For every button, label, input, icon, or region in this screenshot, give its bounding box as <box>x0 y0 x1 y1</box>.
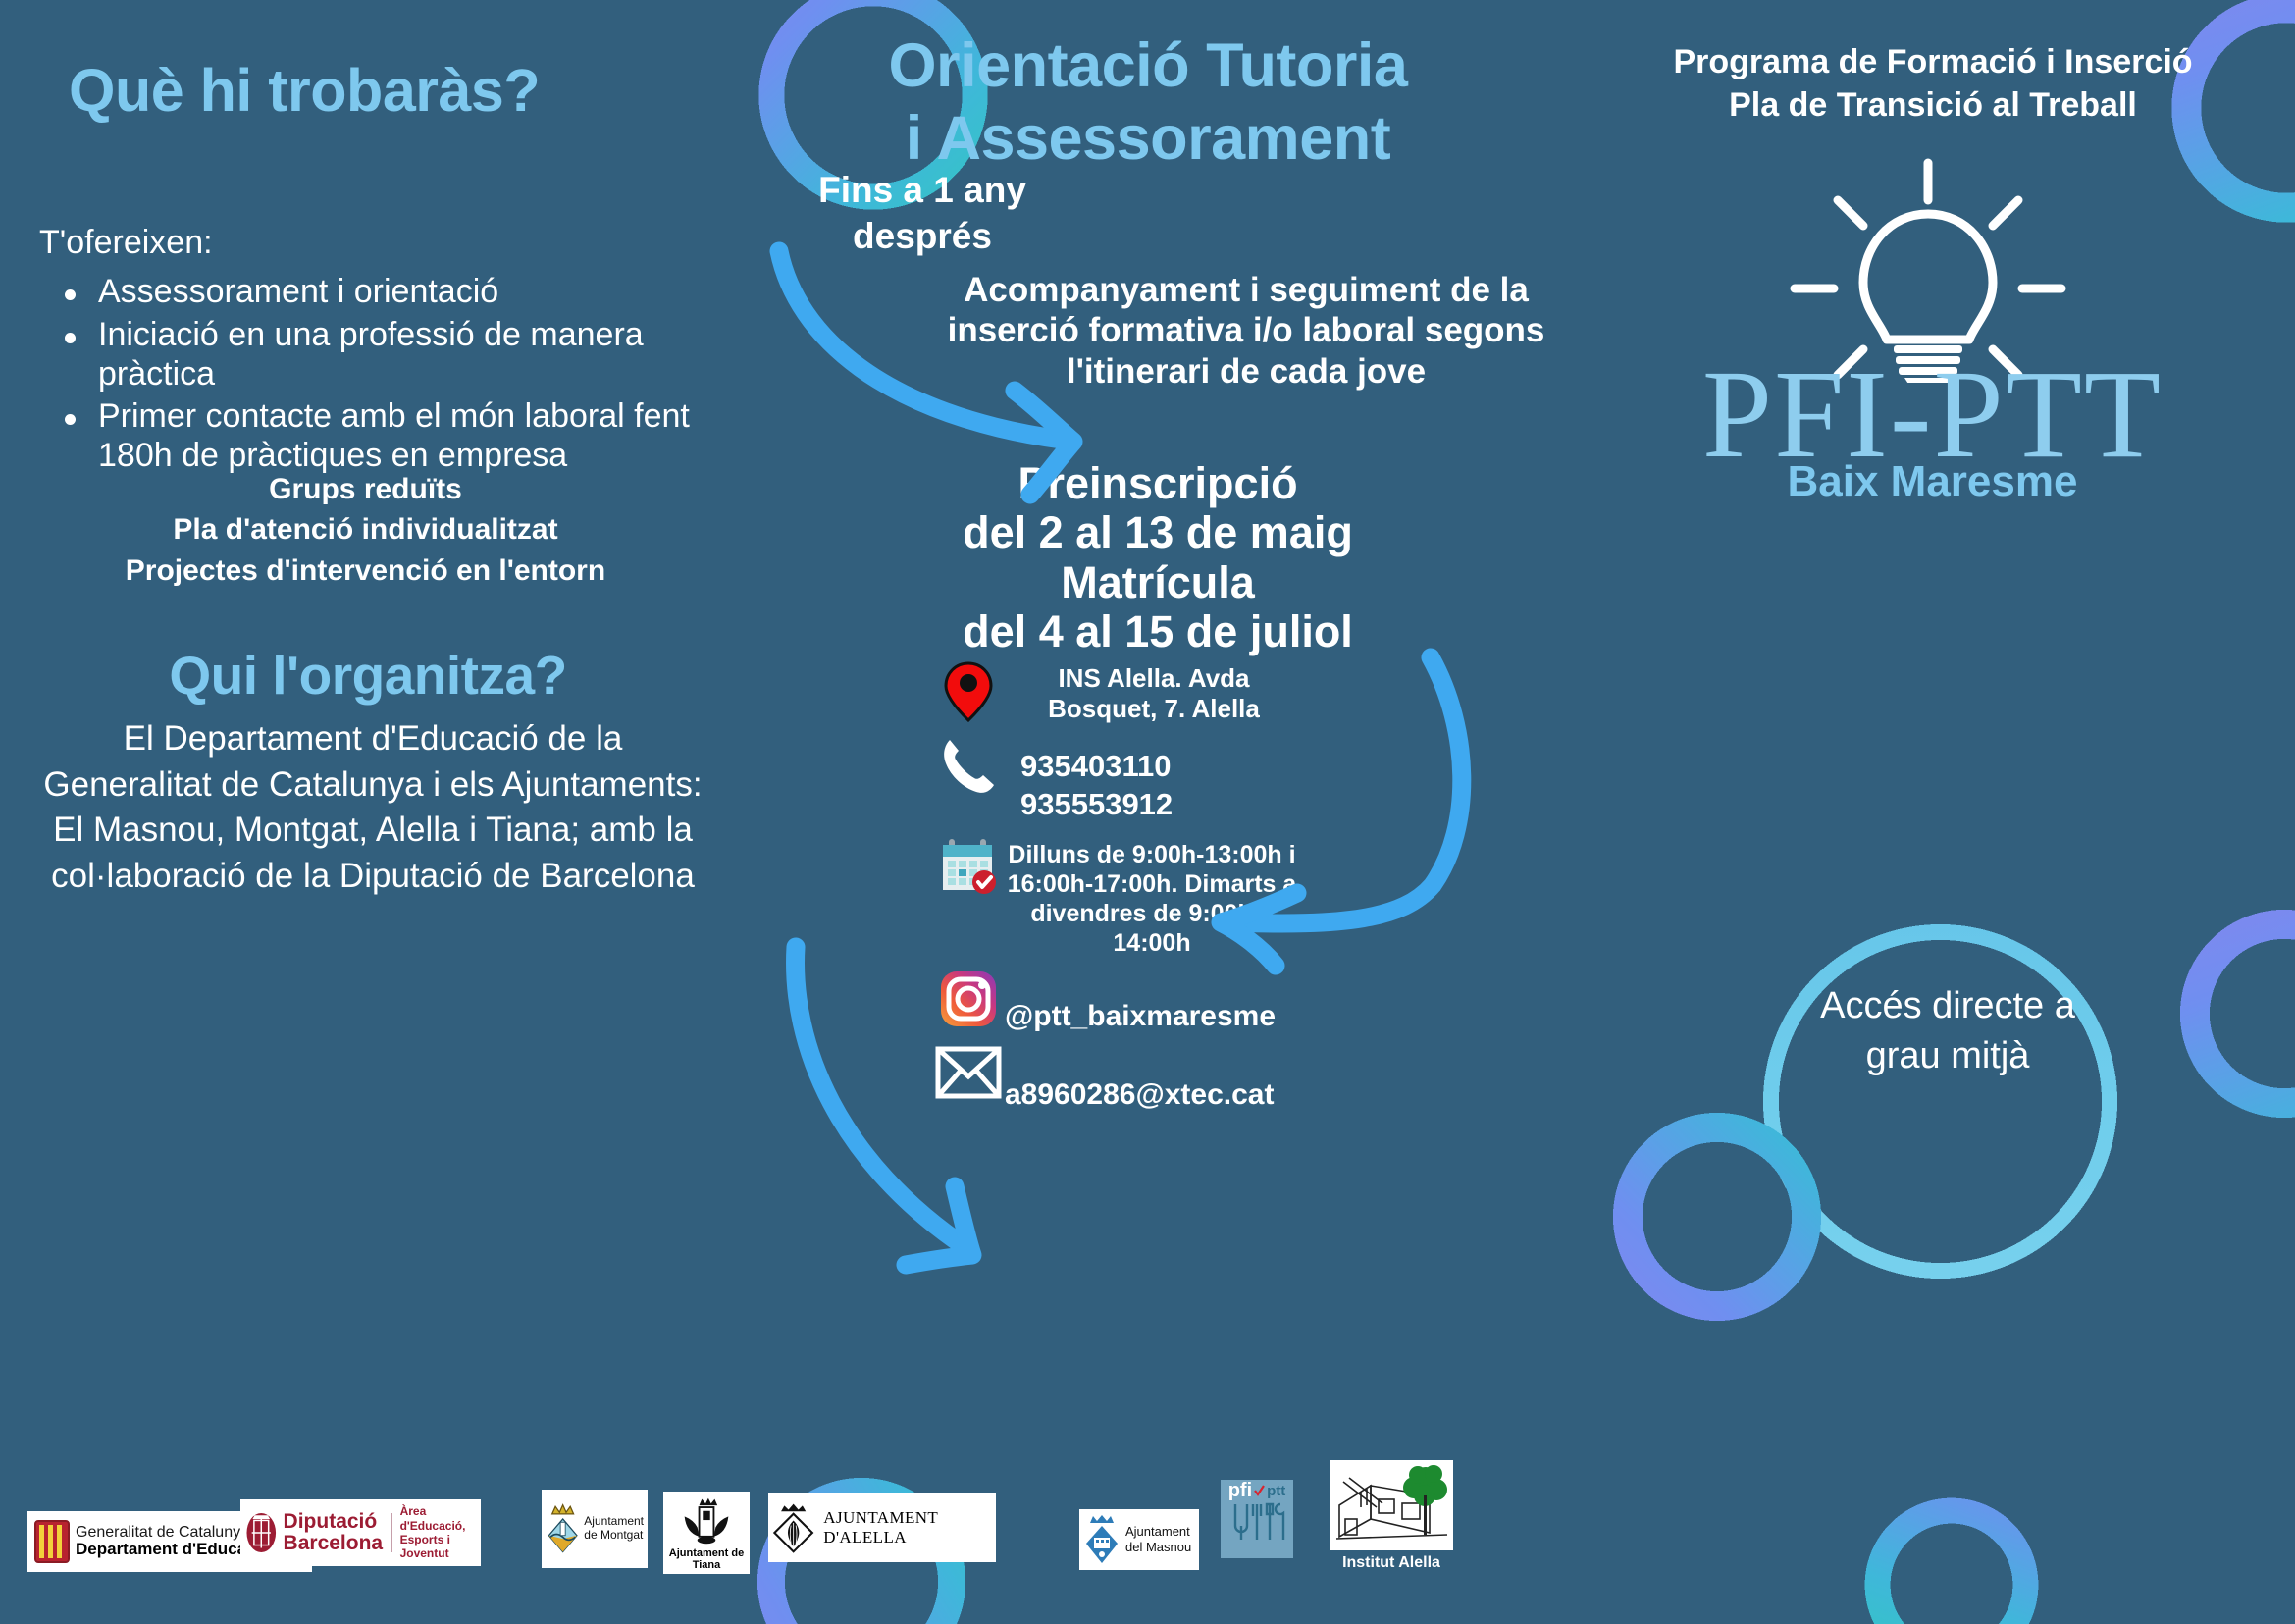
section-heading-who-organizes: Qui l'organitza? <box>0 648 736 705</box>
contact-hours-text: Dilluns de 9:00h-13:00h i 16:00h-17:00h.… <box>1005 834 1299 958</box>
phone-number-2: 935553912 <box>1020 786 1173 824</box>
section-heading-what-youll-find: Què hi trobaràs? <box>69 59 540 122</box>
masnou-line2: del Masnou <box>1125 1540 1191 1555</box>
highlight-line: Grups reduïts <box>0 469 731 509</box>
highlight-line: Pla d'atenció individualitzat <box>0 509 731 550</box>
organizer-body-text: El Departament d'Educació de la Generali… <box>39 716 706 899</box>
tiana-label: Ajuntament de Tiana <box>666 1547 747 1571</box>
contact-address-text: INS Alella. Avda Bosquet, 7. Alella <box>1005 659 1299 724</box>
contact-row-instagram[interactable]: @ptt_baixmaresme <box>932 968 1570 1034</box>
highlight-line: Projectes d'intervenció en l'entorn <box>0 550 731 591</box>
logo-ajuntament-montgat: Ajuntament de Montgat <box>542 1490 648 1568</box>
contact-list: INS Alella. Avda Bosquet, 7. Alella 9354… <box>932 659 1570 1123</box>
middle-column: Orientació Tutoria i Assessorament Fins … <box>746 0 1570 1452</box>
contact-row-address: INS Alella. Avda Bosquet, 7. Alella <box>932 659 1570 724</box>
phone-number-1: 935403110 <box>1020 748 1173 786</box>
instagram-icon[interactable] <box>932 968 1005 1028</box>
poster-root: Què hi trobaràs? T'ofereixen: Assessoram… <box>0 0 2295 1624</box>
tools-icon <box>1226 1502 1287 1542</box>
contact-row-email[interactable]: a8960286@xtec.cat <box>932 1044 1570 1113</box>
preinscription-label: Preinscripció <box>746 459 1570 508</box>
map-pin-icon <box>932 659 1005 722</box>
enrolment-dates-block: Preinscripció del 2 al 13 de maig Matríc… <box>746 459 1570 657</box>
diputacio-area2: Esports i Joventut <box>400 1533 476 1561</box>
page-title-line1: Orientació Tutoria <box>736 29 1560 102</box>
logo-pfi-ptt-badge: pfi ptt <box>1221 1480 1293 1558</box>
pfi-badge-ptt-text: ptt <box>1267 1483 1285 1499</box>
list-item: Assessorament i orientació <box>43 273 720 312</box>
envelope-icon[interactable] <box>932 1044 1005 1099</box>
callout-accompaniment: Acompanyament i seguiment de la inserció… <box>932 270 1560 392</box>
pfi-badge-pfi-text: pfi <box>1228 1480 1252 1502</box>
institut-alella-label: Institut Alella <box>1330 1554 1453 1572</box>
callout-up-to-one-year: Fins a 1 any després <box>746 167 1099 260</box>
contact-row-phone: 935403110 935553912 <box>932 734 1570 824</box>
program-subtitle-line2: Pla de Transició al Treball <box>1580 84 2286 128</box>
preinscription-dates: del 2 al 13 de maig <box>746 508 1570 557</box>
montgat-line1: Ajuntament <box>584 1515 644 1529</box>
contact-row-hours: Dilluns de 9:00h-13:00h i 16:00h-17:00h.… <box>932 834 1570 958</box>
diputacio-line1: Diputació <box>284 1511 384 1533</box>
diputacio-area1: Àrea d'Educació, <box>400 1504 476 1533</box>
diputacio-line2: Barcelona <box>284 1533 384 1554</box>
offer-list: Assessorament i orientació Iniciació en … <box>43 273 720 480</box>
alella-label: AJUNTAMENT D'ALELLA <box>815 1508 993 1547</box>
program-subtitle-line1: Programa de Formació i Inserció <box>1580 41 2286 84</box>
check-icon <box>1254 1485 1265 1497</box>
page-title: Orientació Tutoria i Assessorament <box>736 29 1560 176</box>
right-column: Programa de Formació i Inserció Pla de T… <box>1570 0 2295 1452</box>
masnou-line1: Ajuntament <box>1125 1524 1191 1540</box>
contact-instagram-handle: @ptt_baixmaresme <box>1005 968 1276 1034</box>
logo-diputacio-barcelona: Diputació Barcelona Àrea d'Educació, Esp… <box>240 1499 481 1566</box>
left-column: Què hi trobaràs? T'ofereixen: Assessoram… <box>0 0 746 1452</box>
pfi-ptt-subtitle: Baix Maresme <box>1570 457 2295 506</box>
contact-email-address: a8960286@xtec.cat <box>1005 1044 1274 1113</box>
contact-phone-text: 935403110 935553912 <box>1005 734 1173 824</box>
callout-direct-access: Accés directe a grau mitjà <box>1786 981 2110 1082</box>
page-title-line2: i Assessorament <box>736 102 1560 175</box>
phone-icon <box>932 734 1005 795</box>
matriculation-dates: del 4 al 15 de juliol <box>746 607 1570 656</box>
logo-ajuntament-tiana: Ajuntament de Tiana <box>663 1492 750 1574</box>
list-item: Iniciació en una professió de manera prà… <box>43 316 720 394</box>
montgat-line2: de Montgat <box>584 1529 644 1543</box>
logo-ajuntament-alella: AJUNTAMENT D'ALELLA <box>768 1493 996 1562</box>
matriculation-label: Matrícula <box>746 558 1570 607</box>
highlights-block: Grups reduïts Pla d'atenció individualit… <box>0 469 731 591</box>
sponsor-logo-bar: Generalitat de Catalunya Departament d'E… <box>0 1452 2295 1624</box>
divider <box>391 1513 391 1552</box>
logo-institut-alella <box>1330 1460 1453 1550</box>
offer-intro-text: T'ofereixen: <box>39 224 213 262</box>
list-item: Primer contacte amb el món laboral fent … <box>43 397 720 476</box>
logo-ajuntament-masnou: Ajuntament del Masnou <box>1079 1509 1199 1570</box>
program-subtitle: Programa de Formació i Inserció Pla de T… <box>1580 41 2286 127</box>
calendar-icon <box>932 834 1005 897</box>
